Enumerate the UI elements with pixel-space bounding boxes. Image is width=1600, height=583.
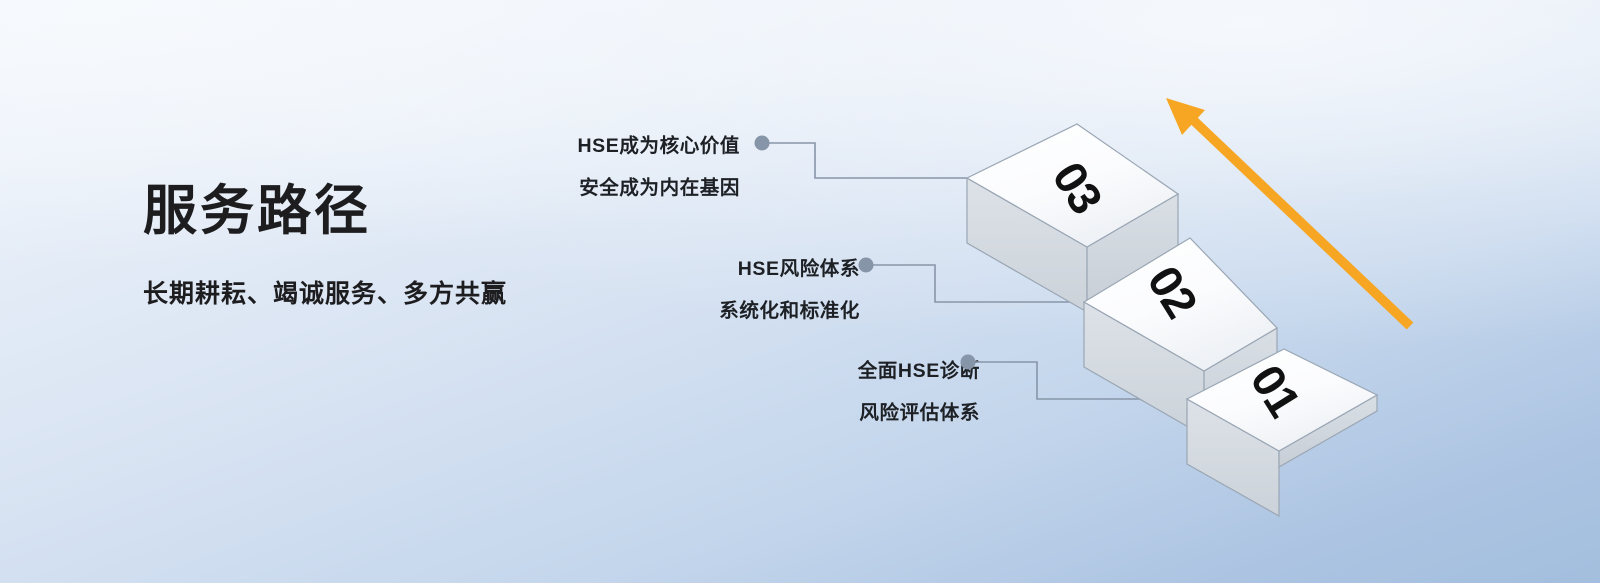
connector-line-03: [755, 136, 968, 179]
connector-dot-02: [859, 258, 874, 273]
connector-dot-01: [961, 355, 976, 370]
slide-canvas: 服务路径 长期耕耘、竭诚服务、多方共赢 HSE成为核心价值 安全成为内在基因 H…: [0, 0, 1600, 583]
connector-dot-03: [755, 136, 770, 151]
isometric-staircase-diagram: 03 02 01: [0, 0, 1600, 583]
